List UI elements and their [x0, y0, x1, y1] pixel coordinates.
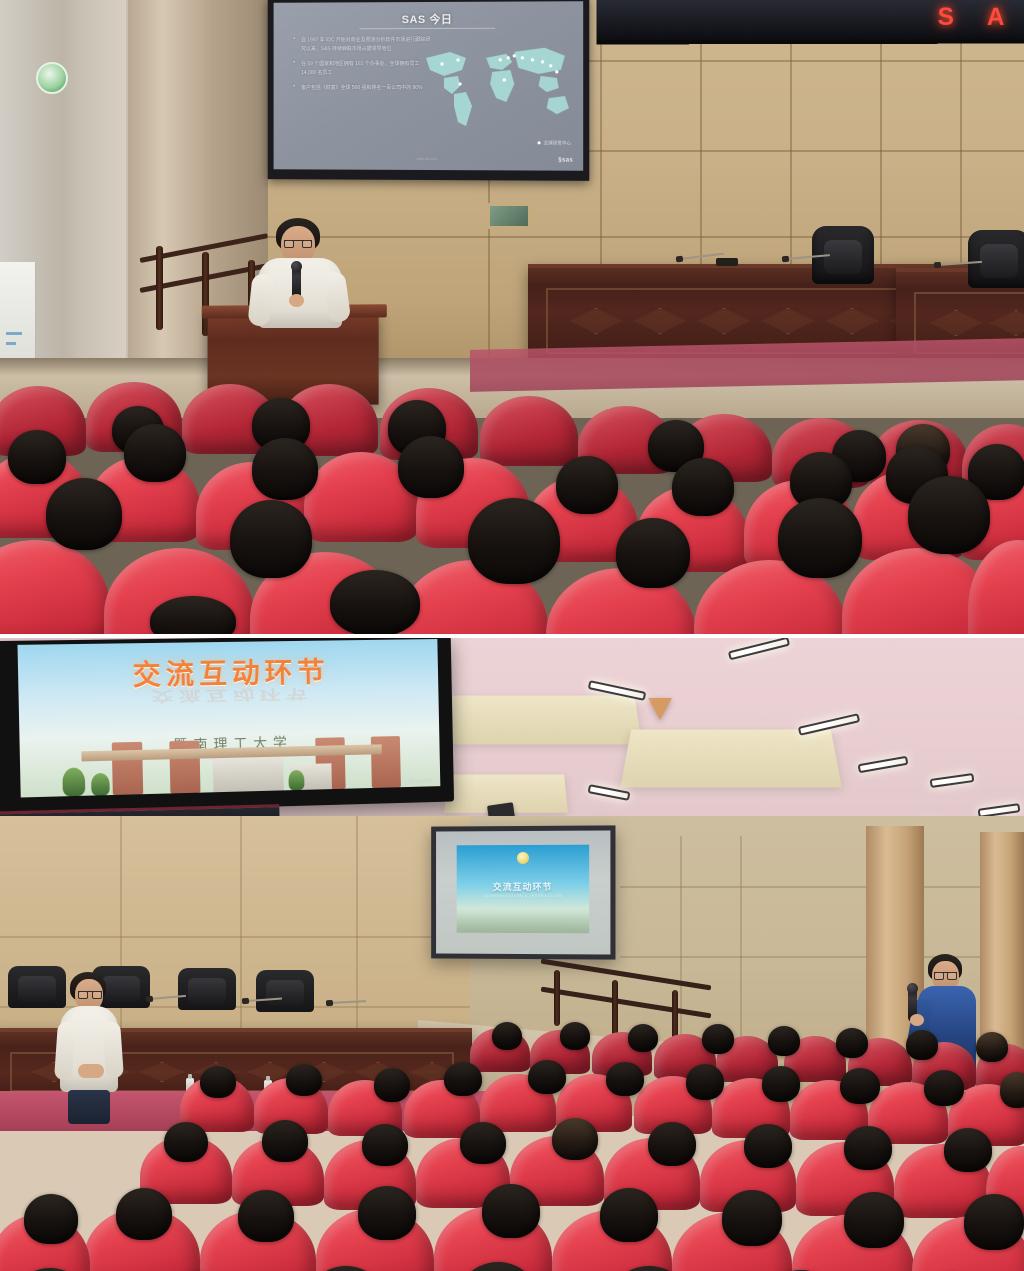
- interactive-qa-session-photo: 交流互动环节 交流互动环节 暨南理工大学: [0, 636, 1024, 1271]
- led-banner-top: S A: [596, 0, 1024, 44]
- interaction-slide-monitor: 交流互动环节 交流互动环节 暨南理工大学: [17, 639, 440, 797]
- monitor-brand-label: Skyworth: [409, 778, 433, 785]
- audience-head: [468, 498, 560, 584]
- desk-microphone-base: [716, 258, 738, 266]
- audience-head: [286, 1064, 322, 1096]
- audience-head: [648, 1122, 696, 1166]
- audience-head: [444, 1062, 482, 1096]
- audience-head: [600, 1188, 658, 1242]
- audience-head: [762, 1066, 800, 1102]
- slide-sun-logo: [517, 852, 529, 864]
- map-legend-label: 全球研发中心: [544, 140, 571, 145]
- audience-head: [672, 458, 734, 516]
- audience-head: [46, 478, 122, 550]
- audience-head: [252, 438, 318, 500]
- interaction-slide-projected: 交流互动环节 COMMUNICATION & INTERACTION: [457, 844, 589, 933]
- audience-head: [398, 436, 464, 498]
- audience-head: [330, 570, 420, 636]
- audience-head: [262, 1120, 308, 1162]
- composite-photo-canvas: S A SAS 今日 自 1997 年 IDC 开始对商业及预测分析软件市场进行…: [0, 0, 1024, 1271]
- audience-head: [702, 1024, 734, 1054]
- audience-head: [844, 1126, 892, 1170]
- slide-bullet: 自 1997 年 IDC 开始对商业及预测分析软件市场进行跟踪研究以来，SAS …: [293, 36, 432, 53]
- world-map-graphic: [414, 36, 575, 133]
- glasses-icon: [78, 991, 102, 996]
- audience-head: [606, 1062, 644, 1096]
- audience-head: [840, 1068, 880, 1104]
- audience-head: [778, 498, 862, 578]
- audience-head: [944, 1128, 992, 1172]
- audience-head: [1000, 1072, 1024, 1108]
- wall-monitor: 交流互动环节 交流互动环节 暨南理工大学: [0, 636, 454, 815]
- top-scene: S A SAS 今日 自 1997 年 IDC 开始对商业及预测分析软件市场进行…: [0, 0, 1024, 636]
- standing-presenter: [56, 972, 130, 1122]
- sas-today-slide: SAS 今日 自 1997 年 IDC 开始对商业及预测分析软件市场进行跟踪研究…: [274, 1, 584, 171]
- audience-head: [124, 424, 186, 482]
- slide-bullet: 客户包括《财富》全球 500 强和排名一百公司中的 90%: [293, 84, 432, 93]
- audience-head: [362, 1124, 408, 1166]
- audience-head: [616, 518, 690, 588]
- audience-head: [560, 1022, 590, 1050]
- audience-head: [556, 456, 618, 514]
- audience-head: [460, 1122, 506, 1164]
- audience-head: [116, 1188, 172, 1240]
- audience-head: [836, 1028, 868, 1058]
- panel-divider: [0, 634, 1024, 638]
- ceiling-cone-light: [648, 698, 672, 720]
- audience-head: [744, 1124, 792, 1168]
- audience-head: [964, 1194, 1024, 1250]
- audience-head: [374, 1068, 410, 1102]
- audience-head: [908, 476, 990, 554]
- audience-head: [844, 1192, 904, 1248]
- audience-head: [768, 1026, 800, 1056]
- audience-head: [482, 1184, 540, 1238]
- presenter-at-podium: [244, 218, 364, 328]
- presidium-chair: [968, 230, 1024, 288]
- led-banner-top-text: S A: [938, 3, 1018, 32]
- projection-screen-frame: SAS 今日 自 1997 年 IDC 开始对商业及预测分析软件市场进行跟踪研究…: [268, 0, 590, 181]
- slide-bullet-list: 自 1997 年 IDC 开始对商业及预测分析软件市场进行跟踪研究以来，SAS …: [293, 36, 432, 100]
- projected-slide-title: 交流互动环节: [457, 880, 589, 893]
- audience-head: [924, 1070, 964, 1106]
- audience-head: [200, 1066, 236, 1098]
- audience-head: [906, 1030, 938, 1060]
- university-emblem: [36, 62, 68, 94]
- presidium-chair: [178, 968, 236, 1010]
- wall-art-frame: [487, 203, 531, 229]
- audience-head: [686, 1064, 724, 1100]
- audience-head: [976, 1032, 1008, 1062]
- audience-head: [722, 1190, 782, 1246]
- audience-head: [24, 1194, 78, 1244]
- projection-screen-bottom: 交流互动环节 COMMUNICATION & INTERACTION: [431, 825, 615, 959]
- presidium-chair: [256, 970, 314, 1012]
- audience-head: [238, 1190, 294, 1242]
- audience-head: [492, 1022, 522, 1050]
- audience-head: [358, 1186, 416, 1240]
- bottom-scene: 交流互动环节 交流互动环节 暨南理工大学: [0, 636, 1024, 1271]
- audience-head: [230, 500, 312, 578]
- campus-gate-graphic: [54, 732, 408, 797]
- audience-head: [528, 1060, 566, 1094]
- audience-head: [8, 430, 66, 484]
- audience-head: [552, 1118, 598, 1160]
- stage-ramp-railing: [540, 966, 710, 1026]
- lecture-presentation-photo: S A SAS 今日 自 1997 年 IDC 开始对商业及预测分析软件市场进行…: [0, 0, 1024, 636]
- projected-slide-subtitle: COMMUNICATION & INTERACTION: [457, 894, 589, 898]
- slide-divider: [359, 28, 495, 29]
- sas-logo: §sas: [558, 158, 573, 164]
- glasses-icon: [284, 240, 312, 245]
- slide-bullet: 在 59 个国家和地区拥有 161 个办事处，全球拥有员工 14,000 名员工: [293, 60, 432, 77]
- glasses-icon: [934, 972, 957, 977]
- map-legend: 全球研发中心: [538, 140, 571, 146]
- slide-title: SAS 今日: [274, 10, 584, 27]
- audience-head: [164, 1122, 208, 1162]
- audience-head: [628, 1024, 658, 1052]
- slide-footer: www.sas.com: [417, 157, 438, 161]
